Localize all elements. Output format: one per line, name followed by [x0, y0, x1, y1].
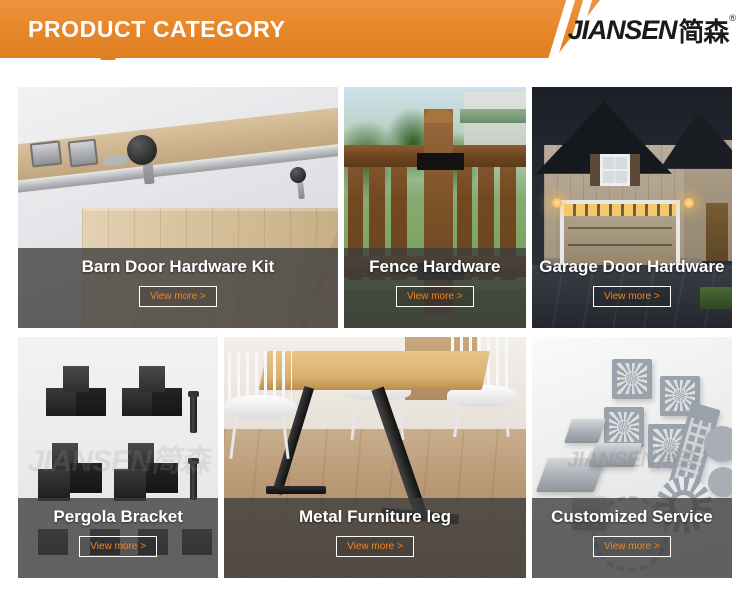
- card-caption: Fence Hardware View more >: [344, 248, 526, 328]
- category-card-metal-furniture-leg[interactable]: Metal Furniture leg View more >: [224, 337, 525, 578]
- category-grid: Barn Door Hardware Kit View more >: [18, 87, 732, 578]
- brand-logo[interactable]: JIANSEN 简森 ®: [568, 12, 736, 49]
- card-caption: Barn Door Hardware Kit View more >: [18, 248, 338, 328]
- card-title: Metal Furniture leg: [299, 504, 451, 530]
- brand-logo-cjk: 简森: [678, 12, 728, 49]
- card-title: Garage Door Hardware: [539, 254, 724, 280]
- card-title: Fence Hardware: [369, 254, 500, 280]
- registered-trademark-icon: ®: [729, 13, 736, 23]
- banner-arrow-notch-icon: [99, 57, 117, 60]
- product-category-page: PRODUCT CATEGORY JIANSEN 简森 ®: [0, 0, 750, 599]
- category-card-fence-hardware[interactable]: Fence Hardware View more >: [344, 87, 526, 328]
- category-card-customized-service[interactable]: JIANSEN简森 Customized Service View more >: [532, 337, 732, 578]
- category-card-pergola-bracket[interactable]: JIANSEN简森 Pergola Bracket View more >: [18, 337, 218, 578]
- page-title: PRODUCT CATEGORY: [28, 16, 286, 43]
- card-caption: Metal Furniture leg View more >: [224, 498, 525, 578]
- category-row: Barn Door Hardware Kit View more >: [18, 87, 732, 328]
- view-more-button[interactable]: View more >: [139, 286, 217, 307]
- brand-logo-latin: JIANSEN: [568, 15, 677, 46]
- page-header-banner: PRODUCT CATEGORY JIANSEN 简森 ®: [0, 0, 750, 60]
- card-title: Barn Door Hardware Kit: [82, 254, 275, 280]
- category-card-garage-door-hardware[interactable]: Garage Door Hardware View more >: [532, 87, 732, 328]
- card-caption: Customized Service View more >: [532, 498, 732, 578]
- view-more-button[interactable]: View more >: [396, 286, 474, 307]
- card-caption: Pergola Bracket View more >: [18, 498, 218, 578]
- view-more-button[interactable]: View more >: [336, 536, 414, 557]
- category-row: JIANSEN简森 Pergola Bracket View more >: [18, 337, 732, 578]
- view-more-button[interactable]: View more >: [593, 286, 671, 307]
- category-card-barn-door-hardware-kit[interactable]: Barn Door Hardware Kit View more >: [18, 87, 338, 328]
- card-title: Customized Service: [551, 504, 713, 530]
- card-title: Pergola Bracket: [53, 504, 182, 530]
- view-more-button[interactable]: View more >: [593, 536, 671, 557]
- view-more-button[interactable]: View more >: [79, 536, 157, 557]
- card-caption: Garage Door Hardware View more >: [532, 248, 732, 328]
